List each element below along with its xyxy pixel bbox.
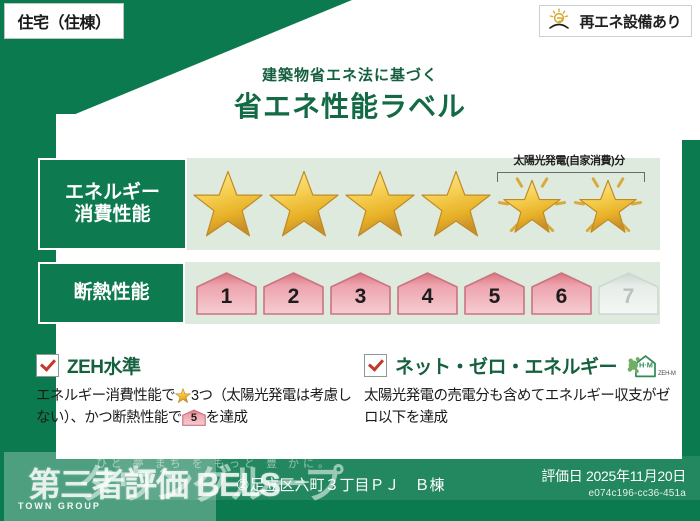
zeh-star-count: 3つ <box>191 388 212 404</box>
zeh-body-part-a: エネルギー消費性能で <box>36 388 175 404</box>
insulation-level-7: 7 <box>597 270 660 316</box>
insulation-levels-panel: 1 2 3 4 <box>185 262 660 324</box>
star-filled-2 <box>267 168 341 240</box>
star-filled-3 <box>343 168 417 240</box>
insulation-level-1-number: 1 <box>221 285 233 316</box>
insulation-level-6-number: 6 <box>556 285 568 316</box>
energy-consumption-row: エネルギー 消費性能 <box>38 158 660 250</box>
evaluation-date: 評価日 2025年11月20日 <box>541 466 686 486</box>
insulation-level-1: 1 <box>195 270 258 316</box>
renewable-energy-badge: 再エネ設備あり <box>539 5 692 37</box>
insulation-performance-row: 断熱性能 1 <box>38 262 660 324</box>
inline-house-icon: 5 <box>182 409 206 426</box>
evaluation-info: 評価日 2025年11月20日 e074c196-cc36-451a <box>541 466 686 499</box>
insulation-level-6: 6 <box>530 270 593 316</box>
insulation-level-2-number: 2 <box>288 285 300 316</box>
zeh-body-part-c: を達成 <box>206 410 248 426</box>
evaluation-id: e074c196-cc36-451a <box>541 488 686 499</box>
inline-house-number: 5 <box>182 409 206 428</box>
zeh-m-caption: ZEH-M <box>658 371 676 379</box>
building-type-label: 住宅（住棟） <box>17 9 110 33</box>
zeh-note-header: ZEH水準 <box>36 352 356 379</box>
energy-row-label: エネルギー 消費性能 <box>38 158 187 250</box>
sun-icon <box>548 8 572 35</box>
heading-subtitle: 建築物省エネ法に基づく <box>0 64 700 85</box>
insulation-label-text: 断熱性能 <box>73 282 149 304</box>
energy-label-line1: エネルギー <box>65 182 160 204</box>
insulation-level-5: 5 <box>463 270 526 316</box>
property-address: ②足立区六町３丁目ＰＪ Ｂ棟 <box>236 474 444 495</box>
solar-bracket-label: 太陽光発電(自家消費)分 <box>489 152 649 168</box>
energy-performance-label: 住宅（住棟） 再エネ設備あり 建築物省エネ法に基づく 省エネ性能ラベル <box>0 0 700 521</box>
inline-star-icon <box>175 388 191 404</box>
net-zero-note: ネット・ゼロ・エネルギー H·M ZEH-M 太陽光発電の売電分も含めてエネルギ… <box>364 352 682 430</box>
net-zero-note-header: ネット・ゼロ・エネルギー H·M ZEH-M <box>364 352 682 379</box>
insulation-level-2: 2 <box>262 270 325 316</box>
insulation-level-4-number: 4 <box>422 285 434 316</box>
energy-stars-panel: 太陽光発電(自家消費)分 <box>187 158 660 250</box>
insulation-row-label: 断熱性能 <box>38 262 185 324</box>
net-zero-note-body: 太陽光発電の売電分も含めてエネルギー収支がゼロ以下を達成 <box>364 385 682 430</box>
solar-bracket-line <box>497 172 645 182</box>
energy-label-line2: 消費性能 <box>75 204 151 226</box>
check-icon <box>364 354 387 377</box>
zeh-note: ZEH水準 エネルギー消費性能で 3つ（太陽光発電は考慮しない）、かつ断熱性能で… <box>36 352 356 430</box>
star-filled-4 <box>419 168 493 240</box>
net-zero-note-title: ネット・ゼロ・エネルギー <box>395 352 617 379</box>
insulation-level-3: 3 <box>329 270 392 316</box>
insulation-level-4: 4 <box>396 270 459 316</box>
renewable-badge-label: 再エネ設備あり <box>579 11 681 32</box>
page-title: 省エネ性能ラベル <box>0 85 700 125</box>
solar-bracket: 太陽光発電(自家消費)分 <box>489 152 649 182</box>
zeh-note-title: ZEH水準 <box>67 352 141 379</box>
insulation-level-7-number: 7 <box>623 285 635 316</box>
zeh-note-body: エネルギー消費性能で 3つ（太陽光発電は考慮しない）、かつ断熱性能で 5 を達成 <box>36 385 356 430</box>
check-icon <box>36 354 59 377</box>
insulation-level-5-number: 5 <box>489 285 501 316</box>
star-filled-1 <box>191 168 265 240</box>
insulation-level-3-number: 3 <box>355 285 367 316</box>
svg-text:H·M: H·M <box>639 360 653 369</box>
building-type-tag: 住宅（住棟） <box>4 3 124 39</box>
zeh-m-logo: H·M ZEH-M <box>627 353 676 379</box>
